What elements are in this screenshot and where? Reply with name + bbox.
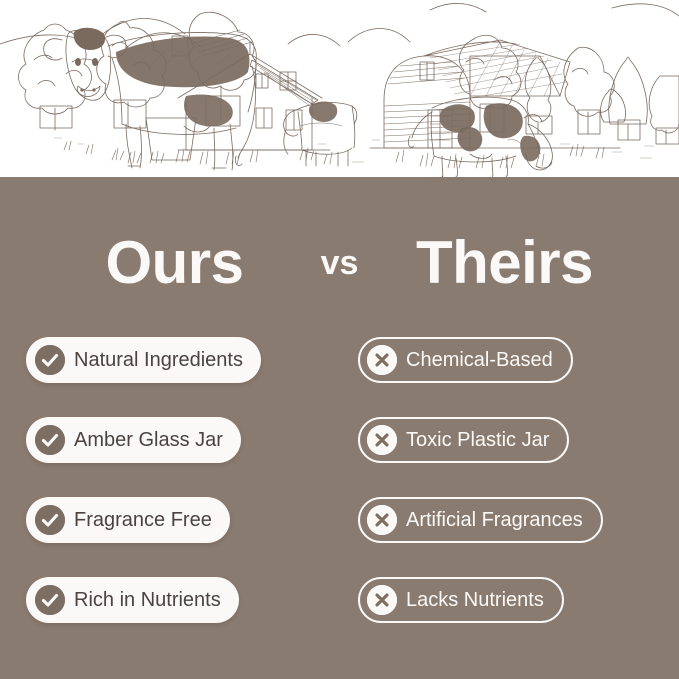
theirs-pill-label: Toxic Plastic Jar xyxy=(406,429,549,452)
check-circle-icon xyxy=(35,585,65,615)
comparison-row: Fragrance Free Artificial Fragrances xyxy=(0,497,679,577)
comparison-rows: Natural Ingredients Chemical-Based Amber… xyxy=(0,337,679,657)
heading-ours: Ours xyxy=(50,233,300,293)
ours-pill-4[interactable]: Rich in Nutrients xyxy=(26,577,239,623)
theirs-pill-label: Chemical-Based xyxy=(406,349,553,372)
theirs-pill-label: Lacks Nutrients xyxy=(406,589,544,612)
check-circle-icon xyxy=(35,345,65,375)
comparison-row: Natural Ingredients Chemical-Based xyxy=(0,337,679,417)
ours-pill-label: Fragrance Free xyxy=(74,509,212,532)
farm-illustration-banner xyxy=(0,0,679,177)
ours-pill-1[interactable]: Natural Ingredients xyxy=(26,337,261,383)
x-circle-icon xyxy=(367,425,397,455)
x-circle-icon xyxy=(367,505,397,535)
comparison-panel: Ours vs Theirs Natural Ingredients Chemi… xyxy=(0,177,679,679)
farm-scene-illustration xyxy=(0,0,679,177)
heading-theirs: Theirs xyxy=(380,233,630,293)
ours-pill-label: Rich in Nutrients xyxy=(74,589,221,612)
comparison-infographic: Ours vs Theirs Natural Ingredients Chemi… xyxy=(0,0,679,679)
comparison-heading: Ours vs Theirs xyxy=(0,225,679,301)
theirs-pill-2[interactable]: Toxic Plastic Jar xyxy=(358,417,569,463)
heading-separator: vs xyxy=(300,246,380,280)
theirs-pill-1[interactable]: Chemical-Based xyxy=(358,337,573,383)
ours-pill-2[interactable]: Amber Glass Jar xyxy=(26,417,241,463)
comparison-row: Amber Glass Jar Toxic Plastic Jar xyxy=(0,417,679,497)
x-circle-icon xyxy=(367,585,397,615)
check-circle-icon xyxy=(35,425,65,455)
ours-pill-label: Natural Ingredients xyxy=(74,349,243,372)
ours-pill-label: Amber Glass Jar xyxy=(74,429,223,452)
x-circle-icon xyxy=(367,345,397,375)
theirs-pill-label: Artificial Fragrances xyxy=(406,509,583,532)
theirs-pill-3[interactable]: Artificial Fragrances xyxy=(358,497,603,543)
theirs-pill-4[interactable]: Lacks Nutrients xyxy=(358,577,564,623)
comparison-row: Rich in Nutrients Lacks Nutrients xyxy=(0,577,679,657)
check-circle-icon xyxy=(35,505,65,535)
ours-pill-3[interactable]: Fragrance Free xyxy=(26,497,230,543)
